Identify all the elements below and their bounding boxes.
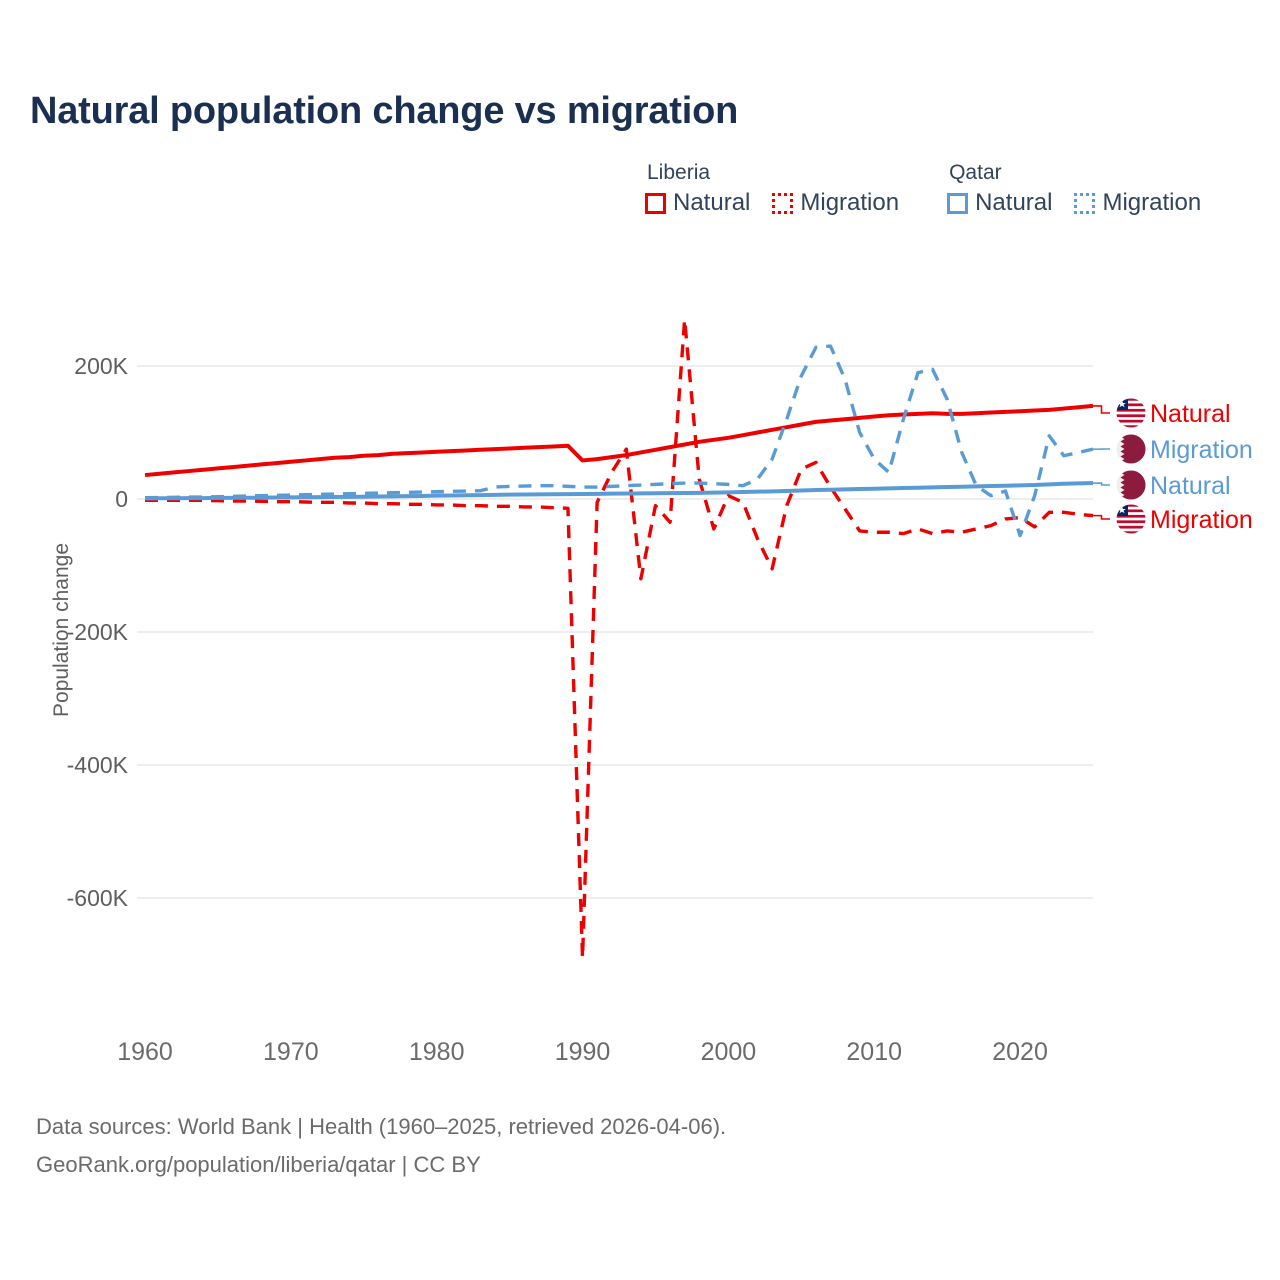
leader-line (1093, 483, 1110, 485)
x-axis-tick-label: 2020 (992, 1038, 1048, 1066)
x-axis-tick-labels: 1960197019801990200020102020 (117, 1038, 1048, 1066)
leader-line (1093, 516, 1110, 519)
end-label-text: Natural (1150, 400, 1231, 428)
series-line-qatar-migration (145, 346, 1093, 536)
end-label-text: Migration (1150, 436, 1253, 464)
x-axis-tick-label: 1960 (117, 1038, 173, 1066)
end-label-text: Migration (1150, 506, 1253, 534)
leader-line (1093, 406, 1110, 413)
y-axis-title: Population change (50, 543, 73, 717)
y-axis-tick-label: -200K (67, 619, 129, 645)
end-label-leaders (1093, 406, 1110, 519)
y-axis-tick-label: 0 (115, 486, 128, 512)
series-lines (145, 319, 1093, 957)
x-axis-tick-label: 1980 (409, 1038, 465, 1066)
y-axis-tick-label: 200K (74, 353, 128, 379)
x-axis-tick-label: 1990 (555, 1038, 611, 1066)
footer: Data sources: World Bank | Health (1960–… (36, 1108, 726, 1184)
y-axis-tick-label: -600K (67, 885, 129, 911)
chart-page: Natural population change vs migration L… (0, 0, 1280, 1280)
gridlines (137, 366, 1093, 898)
x-axis-tick-label: 1970 (263, 1038, 319, 1066)
end-label-text: Natural (1150, 472, 1231, 500)
y-axis-tick-labels: 200K0-200K-400K-600K (67, 353, 129, 911)
footer-line-sources: Data sources: World Bank | Health (1960–… (36, 1108, 726, 1146)
x-axis-tick-label: 2010 (846, 1038, 902, 1066)
y-axis-tick-label: -400K (67, 752, 129, 778)
plot-area: 200K0-200K-400K-600K 1960197019801990200… (0, 0, 1280, 1280)
x-axis-tick-label: 2000 (701, 1038, 757, 1066)
footer-line-attribution: GeoRank.org/population/liberia/qatar | C… (36, 1146, 726, 1184)
end-labels: NaturalMigrationNaturalMigration (1116, 398, 1253, 534)
